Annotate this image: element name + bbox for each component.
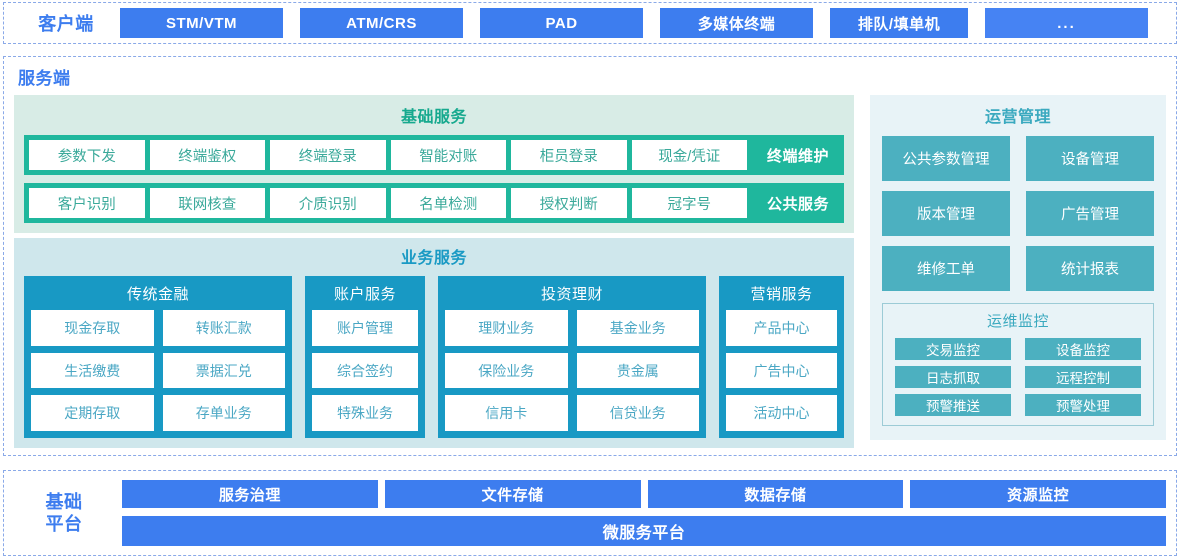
platform-item[interactable]: 资源监控	[910, 480, 1166, 508]
business-service-item[interactable]: 特殊业务	[312, 395, 418, 431]
operations-management-item[interactable]: 设备管理	[1026, 136, 1154, 181]
operations-monitor-box: 运维监控 交易监控设备监控日志抓取远程控制预警推送预警处理	[882, 303, 1154, 426]
basic-service-category-tag: 公共服务	[752, 188, 844, 218]
business-service-group-title: 投资理财	[445, 283, 699, 304]
business-service-item[interactable]: 信用卡	[445, 395, 568, 431]
client-terminal-button[interactable]: STM/VTM	[120, 8, 283, 38]
architecture-diagram: 客户端 STM/VTMATM/CRSPAD多媒体终端排队/填单机... 服务端 …	[0, 0, 1180, 560]
business-service-item[interactable]: 贵金属	[577, 353, 700, 389]
platform-label-line2: 平台	[14, 513, 114, 536]
business-service-item[interactable]: 保险业务	[445, 353, 568, 389]
business-service-item[interactable]: 票据汇兑	[163, 353, 286, 389]
client-terminal-button[interactable]: 排队/填单机	[830, 8, 968, 38]
client-layer: 客户端 STM/VTMATM/CRSPAD多媒体终端排队/填单机...	[3, 2, 1177, 44]
server-services-column: 基础服务 参数下发终端鉴权终端登录智能对账柜员登录现金/凭证终端维护客户识别联网…	[14, 95, 854, 440]
platform-label-line1: 基础	[14, 491, 114, 514]
business-service-group: 投资理财理财业务基金业务保险业务贵金属信用卡信贷业务	[438, 276, 706, 438]
client-terminal-button[interactable]: ATM/CRS	[300, 8, 463, 38]
business-service-item[interactable]: 基金业务	[577, 310, 700, 346]
client-terminal-button[interactable]: ...	[985, 8, 1148, 38]
business-service-item[interactable]: 产品中心	[726, 310, 837, 346]
operations-management-panel: 运营管理 公共参数管理设备管理版本管理广告管理维修工单统计报表 运维监控 交易监…	[870, 95, 1166, 440]
operations-management-item[interactable]: 统计报表	[1026, 246, 1154, 291]
business-service-item[interactable]: 综合签约	[312, 353, 418, 389]
business-service-row: 信用卡信贷业务	[445, 395, 699, 431]
basic-service-item[interactable]: 终端登录	[270, 140, 386, 170]
business-service-item[interactable]: 转账汇款	[163, 310, 286, 346]
platform-microservice-bar[interactable]: 微服务平台	[122, 516, 1166, 546]
platform-layer-label: 基础 平台	[14, 491, 114, 536]
business-service-row: 定期存取存单业务	[31, 395, 285, 431]
server-layer: 服务端 基础服务 参数下发终端鉴权终端登录智能对账柜员登录现金/凭证终端维护客户…	[3, 56, 1177, 456]
platform-item[interactable]: 服务治理	[122, 480, 378, 508]
operations-monitor-item[interactable]: 预警推送	[895, 394, 1011, 416]
basic-service-item[interactable]: 现金/凭证	[632, 140, 748, 170]
business-service-item[interactable]: 定期存取	[31, 395, 154, 431]
basic-service-category-tag: 终端维护	[752, 140, 844, 170]
operations-monitor-item[interactable]: 设备监控	[1025, 338, 1141, 360]
operations-management-item[interactable]: 维修工单	[882, 246, 1010, 291]
business-service-row: 保险业务贵金属	[445, 353, 699, 389]
business-services-title: 业务服务	[24, 244, 844, 268]
basic-service-item[interactable]: 联网核查	[150, 188, 266, 218]
business-service-item[interactable]: 理财业务	[445, 310, 568, 346]
basic-service-row: 参数下发终端鉴权终端登录智能对账柜员登录现金/凭证终端维护	[24, 135, 844, 175]
business-services-groups: 传统金融现金存取转账汇款生活缴费票据汇兑定期存取存单业务账户服务账户管理综合签约…	[24, 276, 844, 438]
business-service-item[interactable]: 信贷业务	[577, 395, 700, 431]
business-service-row: 广告中心	[726, 353, 837, 389]
basic-service-item[interactable]: 终端鉴权	[150, 140, 266, 170]
basic-service-row: 客户识别联网核查介质识别名单检测授权判断冠字号公共服务	[24, 183, 844, 223]
platform-layer: 基础 平台 服务治理文件存储数据存储资源监控 微服务平台	[3, 470, 1177, 556]
business-service-cells: 产品中心广告中心活动中心	[726, 310, 837, 431]
client-layer-label: 客户端	[12, 10, 120, 36]
operations-monitor-grid: 交易监控设备监控日志抓取远程控制预警推送预警处理	[895, 338, 1141, 416]
operations-management-grid: 公共参数管理设备管理版本管理广告管理维修工单统计报表	[882, 136, 1154, 291]
operations-monitor-item[interactable]: 预警处理	[1025, 394, 1141, 416]
server-layer-label: 服务端	[18, 64, 1166, 89]
operations-monitor-item[interactable]: 日志抓取	[895, 366, 1011, 388]
business-service-cells: 账户管理综合签约特殊业务	[312, 310, 418, 431]
basic-service-item[interactable]: 冠字号	[632, 188, 748, 218]
basic-service-item[interactable]: 介质识别	[270, 188, 386, 218]
business-service-row: 特殊业务	[312, 395, 418, 431]
business-service-group: 营销服务产品中心广告中心活动中心	[719, 276, 844, 438]
business-service-row: 综合签约	[312, 353, 418, 389]
business-service-item[interactable]: 存单业务	[163, 395, 286, 431]
business-service-group-title: 传统金融	[31, 283, 285, 304]
operations-monitor-title: 运维监控	[895, 310, 1141, 331]
basic-service-item[interactable]: 参数下发	[29, 140, 145, 170]
basic-service-item[interactable]: 客户识别	[29, 188, 145, 218]
business-service-cells: 理财业务基金业务保险业务贵金属信用卡信贷业务	[445, 310, 699, 431]
business-service-group-title: 账户服务	[312, 283, 418, 304]
business-service-group-title: 营销服务	[726, 283, 837, 304]
business-services-panel: 业务服务 传统金融现金存取转账汇款生活缴费票据汇兑定期存取存单业务账户服务账户管…	[14, 238, 854, 448]
basic-services-rows: 参数下发终端鉴权终端登录智能对账柜员登录现金/凭证终端维护客户识别联网核查介质识…	[24, 135, 844, 223]
business-service-group: 传统金融现金存取转账汇款生活缴费票据汇兑定期存取存单业务	[24, 276, 292, 438]
business-service-item[interactable]: 生活缴费	[31, 353, 154, 389]
business-service-row: 产品中心	[726, 310, 837, 346]
business-service-row: 现金存取转账汇款	[31, 310, 285, 346]
operations-management-item[interactable]: 广告管理	[1026, 191, 1154, 236]
basic-service-item[interactable]: 柜员登录	[511, 140, 627, 170]
basic-service-item[interactable]: 名单检测	[391, 188, 507, 218]
client-terminal-list: STM/VTMATM/CRSPAD多媒体终端排队/填单机...	[120, 8, 1168, 38]
operations-monitor-item[interactable]: 交易监控	[895, 338, 1011, 360]
business-service-group: 账户服务账户管理综合签约特殊业务	[305, 276, 425, 438]
platform-top-row: 服务治理文件存储数据存储资源监控	[122, 480, 1166, 508]
business-service-row: 生活缴费票据汇兑	[31, 353, 285, 389]
basic-service-item[interactable]: 智能对账	[391, 140, 507, 170]
operations-monitor-item[interactable]: 远程控制	[1025, 366, 1141, 388]
business-service-item[interactable]: 现金存取	[31, 310, 154, 346]
basic-services-panel: 基础服务 参数下发终端鉴权终端登录智能对账柜员登录现金/凭证终端维护客户识别联网…	[14, 95, 854, 233]
business-service-row: 活动中心	[726, 395, 837, 431]
business-service-item[interactable]: 活动中心	[726, 395, 837, 431]
client-terminal-button[interactable]: 多媒体终端	[660, 8, 813, 38]
platform-content: 服务治理文件存储数据存储资源监控 微服务平台	[114, 480, 1166, 546]
platform-item[interactable]: 文件存储	[385, 480, 641, 508]
business-service-item[interactable]: 账户管理	[312, 310, 418, 346]
operations-management-title: 运营管理	[882, 103, 1154, 127]
client-terminal-button[interactable]: PAD	[480, 8, 643, 38]
business-service-item[interactable]: 广告中心	[726, 353, 837, 389]
operations-management-item[interactable]: 公共参数管理	[882, 136, 1010, 181]
basic-service-item[interactable]: 授权判断	[511, 188, 627, 218]
operations-management-item[interactable]: 版本管理	[882, 191, 1010, 236]
business-service-cells: 现金存取转账汇款生活缴费票据汇兑定期存取存单业务	[31, 310, 285, 431]
business-service-row: 账户管理	[312, 310, 418, 346]
business-service-row: 理财业务基金业务	[445, 310, 699, 346]
basic-services-title: 基础服务	[24, 103, 844, 127]
platform-item[interactable]: 数据存储	[648, 480, 904, 508]
